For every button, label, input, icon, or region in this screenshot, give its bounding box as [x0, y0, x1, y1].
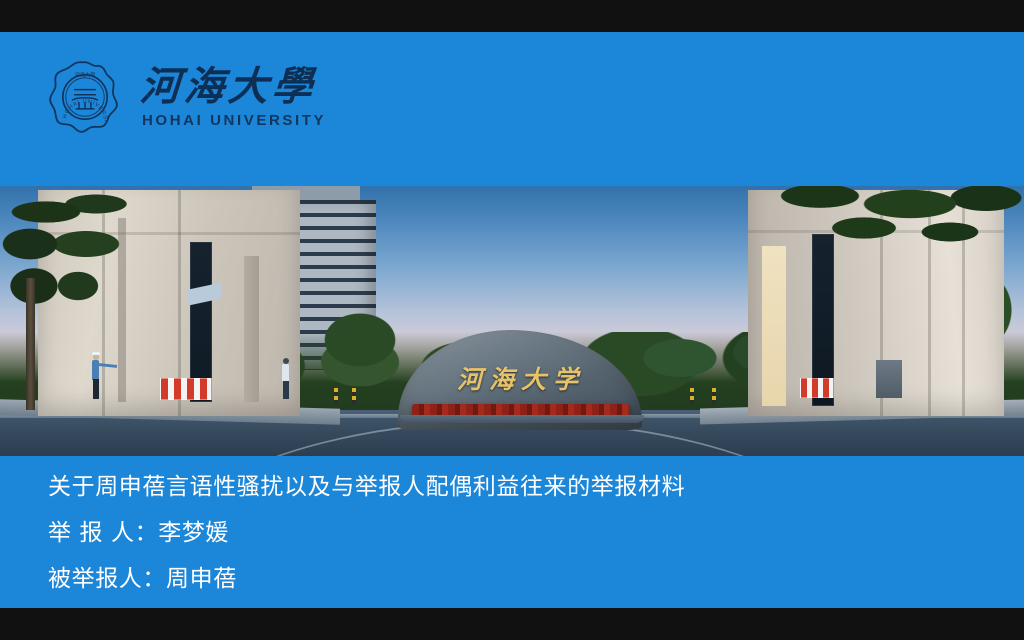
tree-left-mid: [300, 270, 420, 390]
report-caption: 关于周申蓓言语性骚扰以及与举报人配偶利益往来的举报材料 举 报 人：李梦媛 被举…: [48, 476, 968, 614]
traffic-barrier-left: [160, 378, 212, 400]
campus-gate-photo: 河海大学: [0, 182, 1024, 456]
logo-wordmark: 河海大學 HOHAI UNIVERSITY: [140, 65, 326, 129]
pedestrian-legs: [283, 381, 289, 399]
university-logo: 河海大學 HOHAI UNIVERSITY 河海大學 HOHAI UNIVERS…: [48, 60, 326, 134]
slide-body: 河海大學 HOHAI UNIVERSITY 河海大學 HOHAI UNIVERS…: [0, 32, 1024, 608]
bollard: [712, 388, 716, 404]
pedestrian-head: [283, 358, 289, 364]
bollard: [690, 388, 694, 404]
pedestrian: [282, 364, 289, 382]
logo-chinese-name: 河海大學: [138, 65, 327, 110]
reporter-line: 举 报 人：李梦媛: [48, 522, 968, 545]
guard-kiosk: [876, 360, 902, 398]
photo-top-trim: [0, 182, 1024, 186]
overhanging-branch: [760, 182, 1024, 278]
university-seal-icon: 河海大學 HOHAI UNIVERSITY: [48, 60, 122, 134]
svg-text:河海大學: 河海大學: [75, 70, 96, 78]
logo-english-name: HOHAI UNIVERSITY: [140, 112, 326, 129]
security-guard-legs: [93, 379, 99, 399]
accused-line: 被举报人：周申蓓: [48, 568, 968, 591]
security-guard-cap: [92, 352, 100, 355]
monument-inscription: 河海大学: [436, 360, 606, 396]
report-title: 关于周申蓓言语性骚扰以及与举报人配偶利益往来的举报材料: [48, 476, 968, 499]
presentation-slide: 河海大學 HOHAI UNIVERSITY 河海大學 HOHAI UNIVERS…: [0, 0, 1024, 640]
palm-trunk: [26, 278, 35, 410]
letterbox-bar-bottom: [0, 608, 1024, 640]
letterbox-bar-top: [0, 0, 1024, 32]
traffic-barrier-right: [800, 378, 834, 398]
monument-plinth: [400, 415, 644, 423]
bollard: [334, 388, 338, 404]
bollard: [352, 388, 356, 404]
security-guard: [92, 360, 99, 380]
